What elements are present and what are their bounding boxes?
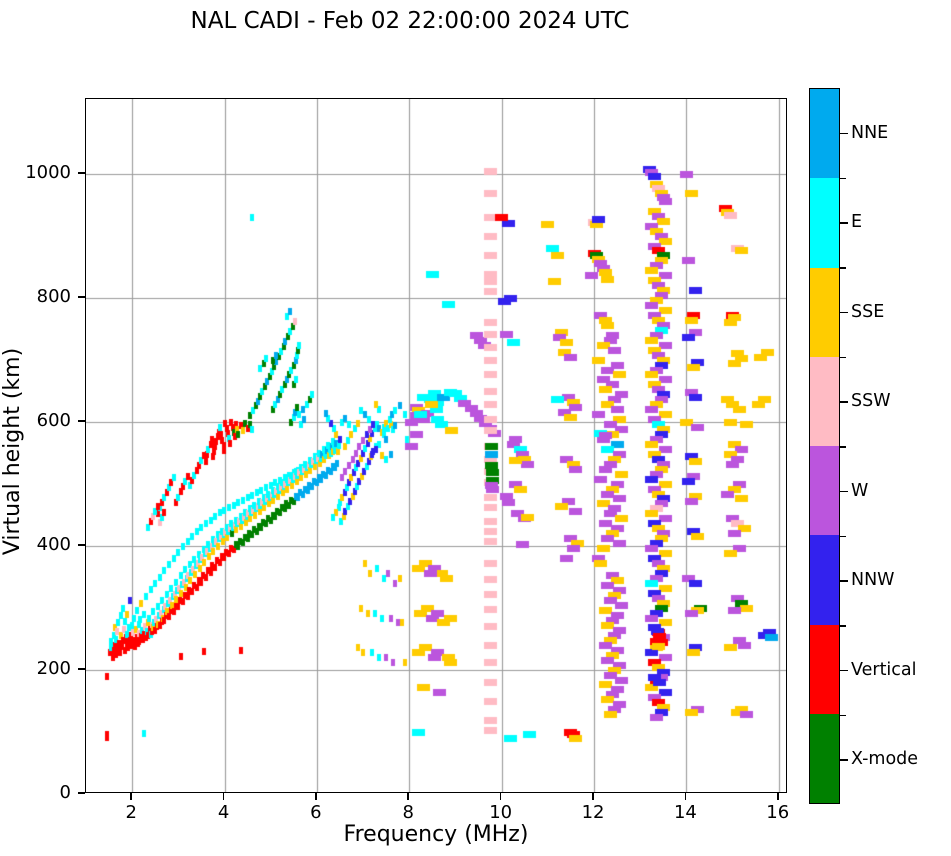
- page-title: NAL CADI - Feb 02 22:00:00 2024 UTC: [0, 8, 820, 34]
- colorbar-tick-mark: [840, 401, 848, 403]
- colorbar-boundary-tick: [840, 625, 846, 627]
- x-tick-label: 6: [310, 802, 321, 823]
- colorbar-boundary-tick: [840, 715, 846, 717]
- x-tick-label: 10: [489, 802, 512, 823]
- colorbar-boundary-tick: [840, 267, 846, 269]
- x-tick-label: 8: [403, 802, 414, 823]
- x-tick-mark: [130, 793, 132, 800]
- colorbar-segment-w[interactable]: [810, 446, 839, 535]
- x-tick-label: 14: [674, 802, 697, 823]
- colorbar-label-x-mode: X-mode: [851, 749, 918, 769]
- colorbar-segment-ssw[interactable]: [810, 357, 839, 446]
- y-tick-mark: [78, 420, 85, 422]
- colorbar-segment-x-mode[interactable]: [810, 714, 839, 803]
- x-tick-mark: [500, 793, 502, 800]
- plot-area[interactable]: [85, 98, 787, 793]
- colorbar-tick-mark: [840, 580, 848, 582]
- x-tick-label: 2: [125, 802, 136, 823]
- colorbar-boundary-tick: [840, 178, 846, 180]
- x-tick-mark: [592, 793, 594, 800]
- colorbar-segment-nne[interactable]: [810, 89, 839, 178]
- colorbar-tick-mark: [840, 222, 848, 224]
- y-tick-mark: [78, 668, 85, 670]
- x-tick-mark: [407, 793, 409, 800]
- colorbar-segment-vertical[interactable]: [810, 625, 839, 714]
- y-axis-label: Virtual height (km): [0, 104, 25, 799]
- colorbar-label-sse: SSE: [851, 302, 884, 322]
- colorbar[interactable]: [809, 88, 840, 804]
- colorbar-segment-nnw[interactable]: [810, 535, 839, 624]
- colorbar-boundary-tick: [840, 446, 846, 448]
- colorbar-label-vertical: Vertical: [851, 660, 917, 680]
- colorbar-tick-mark: [840, 312, 848, 314]
- x-tick-mark: [223, 793, 225, 800]
- x-axis-label: Frequency (MHz): [85, 822, 787, 847]
- colorbar-label-nnw: NNW: [851, 570, 895, 590]
- colorbar-segment-sse[interactable]: [810, 268, 839, 357]
- colorbar-boundary-tick: [840, 357, 846, 359]
- scatter-layer: [86, 99, 787, 793]
- x-tick-label: 4: [218, 802, 229, 823]
- colorbar-boundary-tick: [840, 536, 846, 538]
- colorbar-label-nne: NNE: [851, 123, 888, 143]
- y-tick-mark: [78, 172, 85, 174]
- x-tick-mark: [777, 793, 779, 800]
- colorbar-label-ssw: SSW: [851, 391, 891, 411]
- y-tick-mark: [78, 296, 85, 298]
- y-tick-mark: [78, 792, 85, 794]
- x-tick-mark: [685, 793, 687, 800]
- colorbar-tick-mark: [840, 670, 848, 672]
- colorbar-tick-mark: [840, 133, 848, 135]
- x-tick-label: 12: [582, 802, 605, 823]
- x-tick-label: 16: [766, 802, 789, 823]
- ionogram-figure: NAL CADI - Feb 02 22:00:00 2024 UTC 0200…: [0, 0, 951, 856]
- colorbar-tick-mark: [840, 491, 848, 493]
- colorbar-label-w: W: [851, 481, 868, 501]
- x-tick-mark: [315, 793, 317, 800]
- y-tick-mark: [78, 544, 85, 546]
- colorbar-segment-e[interactable]: [810, 178, 839, 267]
- colorbar-label-e: E: [851, 212, 862, 232]
- colorbar-tick-mark: [840, 759, 848, 761]
